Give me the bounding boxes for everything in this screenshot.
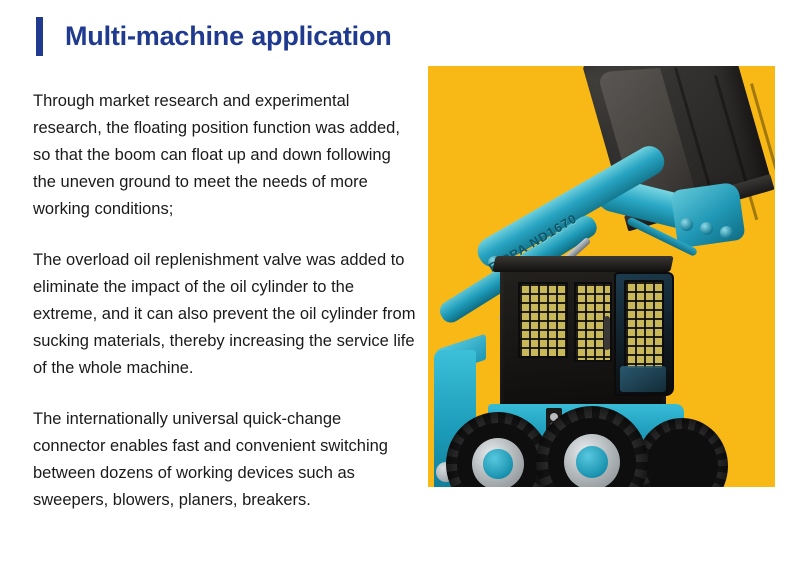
- cab-window: [620, 366, 666, 392]
- wheel-front-rim: [472, 438, 524, 487]
- page-title-text: Multi-machine application: [65, 23, 392, 50]
- boom-head-coupler: [670, 182, 745, 249]
- body-copy: Through market research and experimental…: [33, 88, 418, 514]
- product-image: RIPPA ND1670: [428, 66, 775, 487]
- paragraph-3: The internationally universal quick-chan…: [33, 406, 418, 514]
- title-accent-bar: [36, 17, 43, 56]
- slide-page: Multi-machine application Through market…: [0, 0, 800, 567]
- wheel-rear-rim: [564, 434, 620, 487]
- paragraph-1: Through market research and experimental…: [33, 88, 418, 223]
- cab-mesh-grille: [518, 282, 568, 358]
- page-title: Multi-machine application: [36, 17, 392, 56]
- cab-door-handle: [604, 316, 610, 350]
- cab-roof: [492, 256, 673, 272]
- paragraph-2: The overload oil replenishment valve was…: [33, 247, 418, 382]
- boom-pin: [680, 218, 693, 231]
- boom-pin: [700, 222, 713, 235]
- boom-pin: [720, 226, 733, 239]
- cab-door-mesh-grille: [624, 280, 664, 370]
- skid-steer-loader-illustration: RIPPA ND1670: [428, 66, 775, 487]
